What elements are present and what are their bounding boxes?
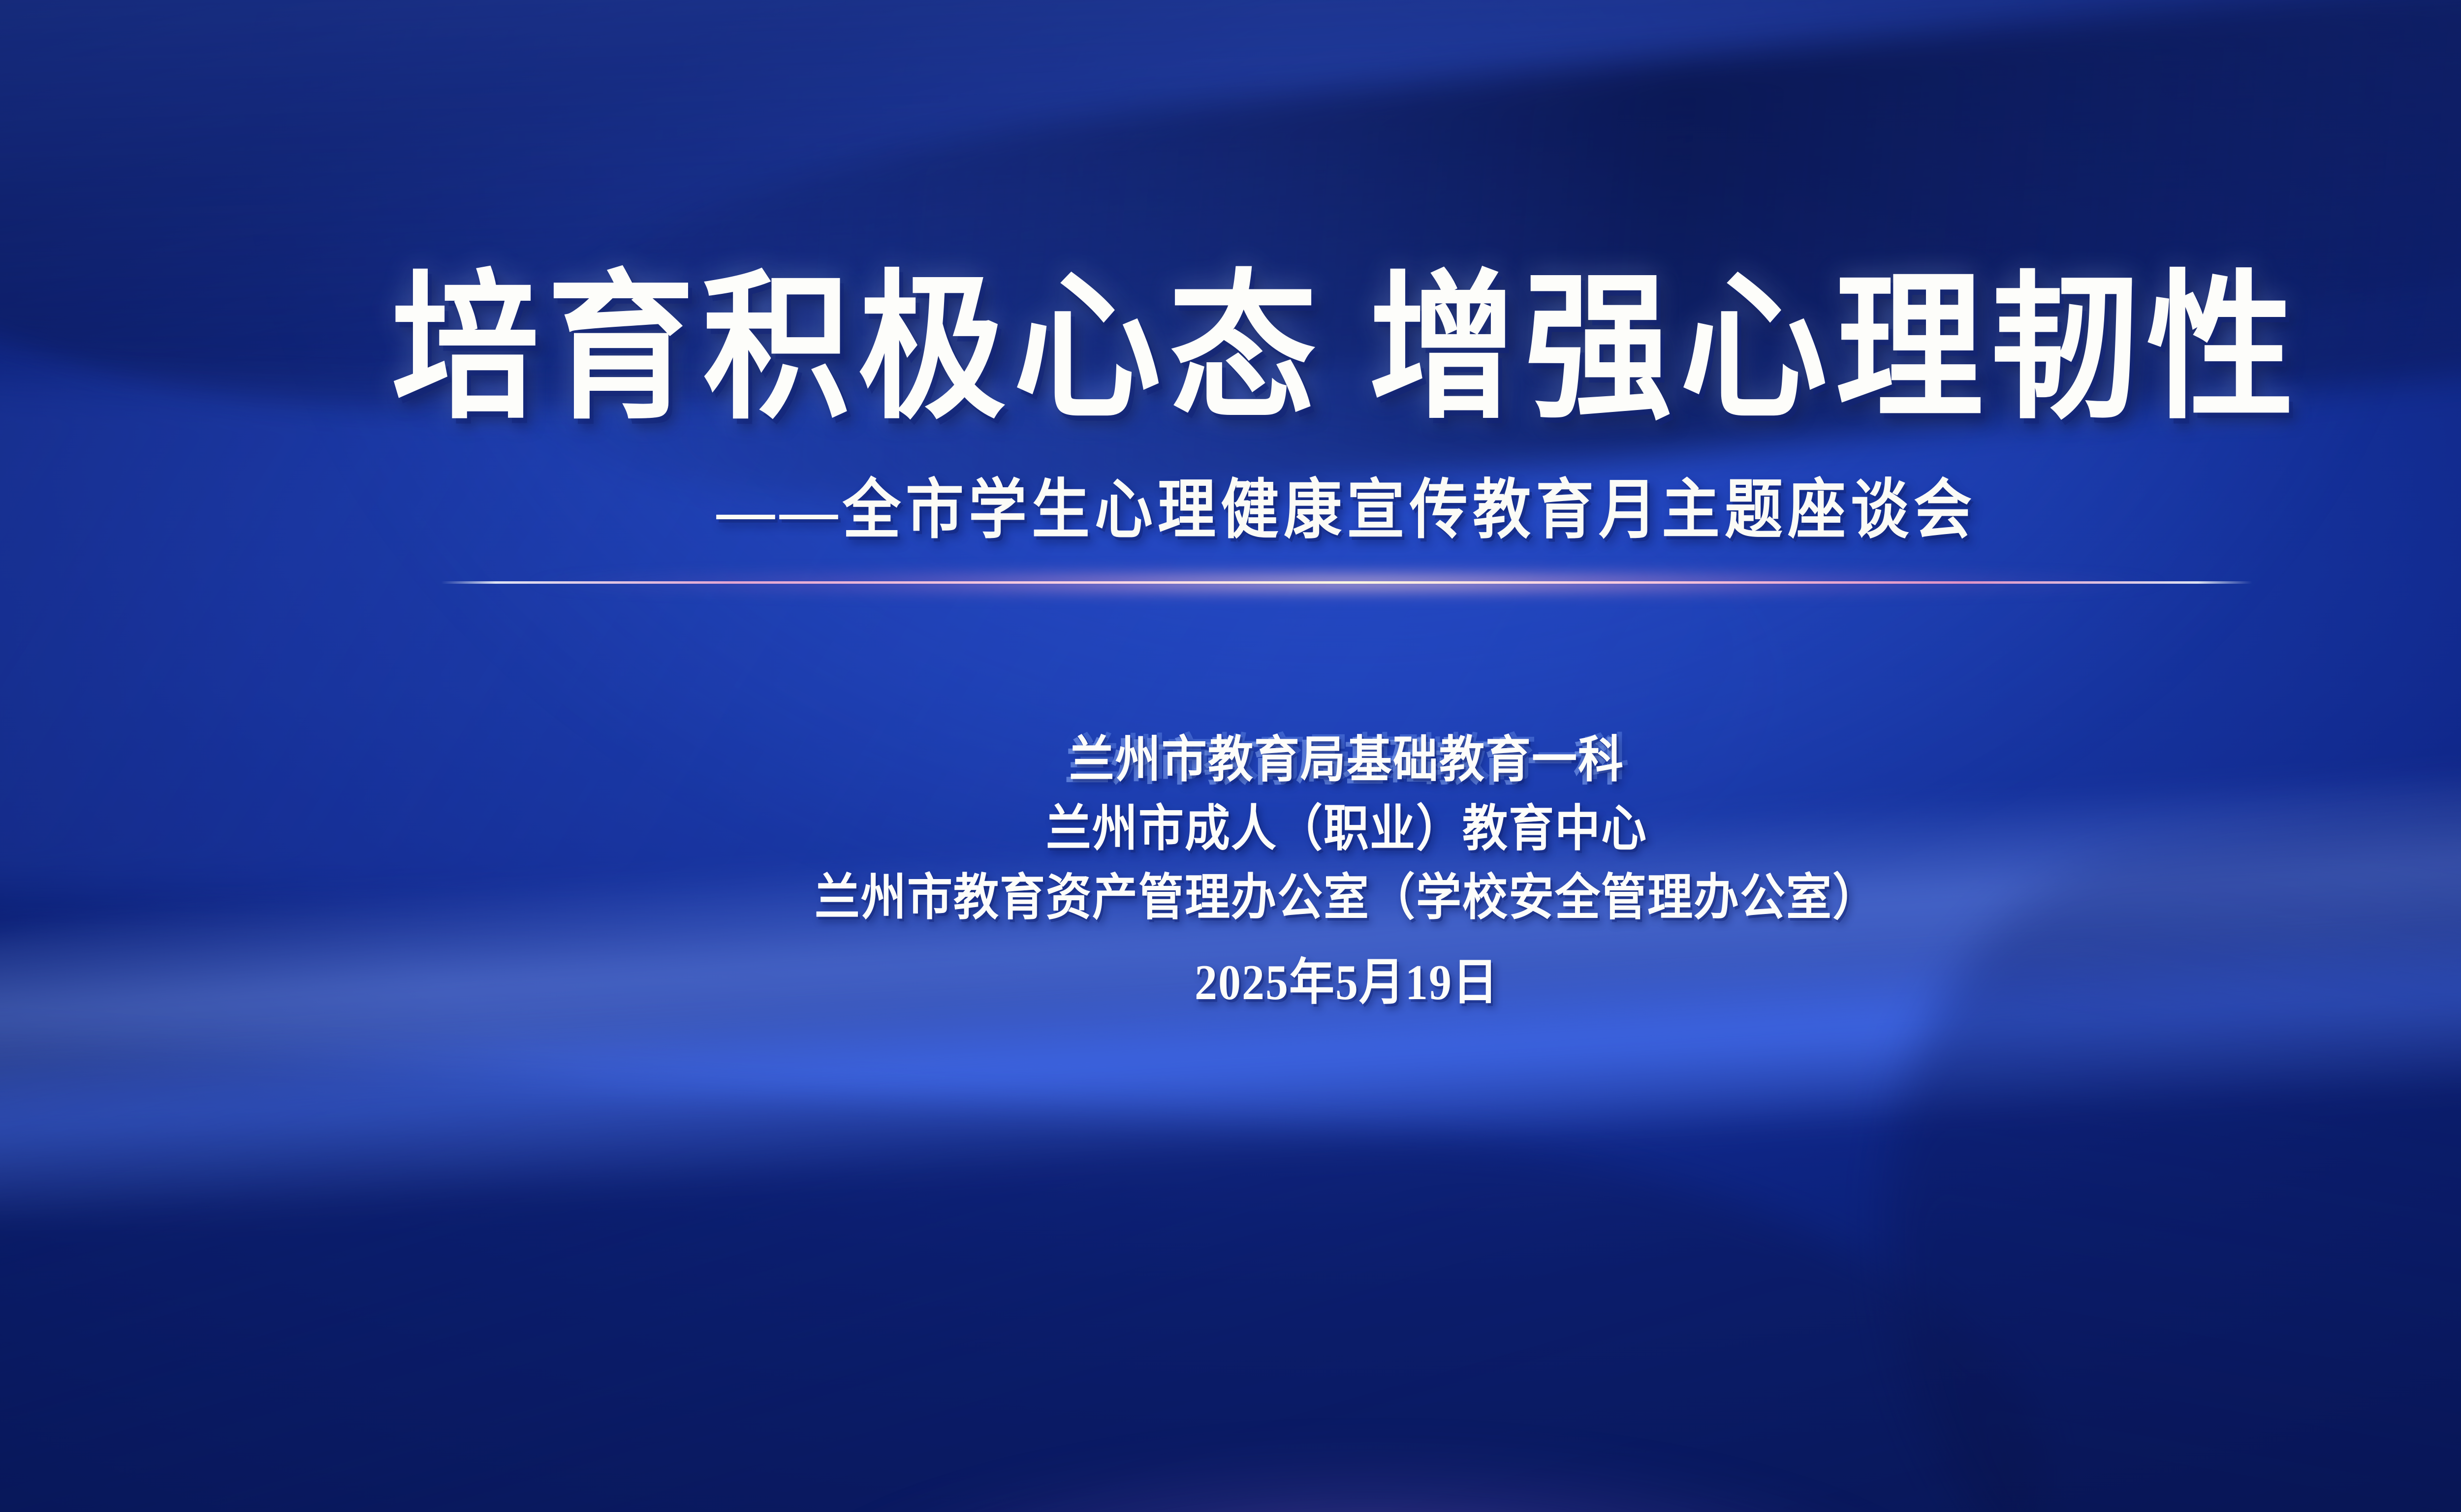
main-title: 培育积极心态增强心理韧性 xyxy=(391,270,2302,429)
slide-content: 培育积极心态增强心理韧性 ——全市学生心理健康宣传教育月主题座谈会 兰州市教育局… xyxy=(0,0,2461,1512)
organizer-line-1: 兰州市教育局基础教育一科 xyxy=(1069,723,1624,798)
subtitle: ——全市学生心理健康宣传教育月主题座谈会 xyxy=(717,457,1977,551)
main-title-part-1: 培育积极心态 xyxy=(391,261,1325,438)
organizer-block: 兰州市教育局基础教育一科 兰州市成人（职业）教育中心 兰州市教育资产管理办公室（… xyxy=(815,726,1879,1010)
main-title-part-2: 增强心理韧性 xyxy=(1369,261,2302,438)
organizer-line-2: 兰州市成人（职业）教育中心 xyxy=(1046,791,1647,867)
divider xyxy=(441,573,2252,593)
divider-line xyxy=(441,581,2252,584)
organizer-line-3: 兰州市教育资产管理办公室（学校安全管理办公室） xyxy=(815,860,1879,936)
event-date: 2025年5月19日 xyxy=(1195,942,1499,1014)
event-backdrop-slide: 培育积极心态增强心理韧性 ——全市学生心理健康宣传教育月主题座谈会 兰州市教育局… xyxy=(0,0,2461,1512)
